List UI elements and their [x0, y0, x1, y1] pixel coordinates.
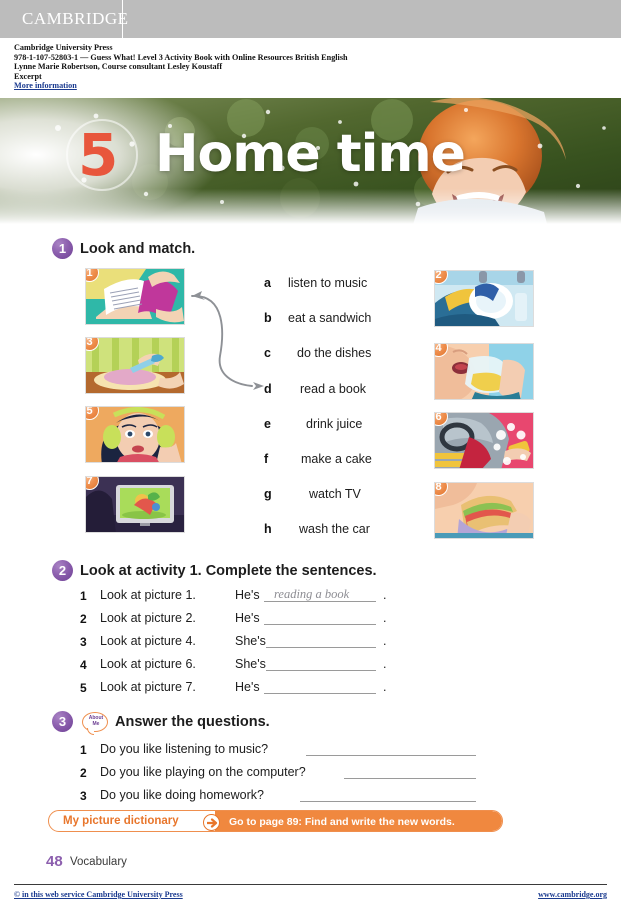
publisher-bar: CAMBRIDGE	[0, 0, 621, 38]
match-option-e[interactable]: drink juice	[306, 417, 362, 431]
website-link[interactable]: www.cambridge.org	[538, 890, 607, 899]
dictionary-instruction: Go to page 89: Find and write the new wo…	[229, 816, 455, 828]
page-section-label: Vocabulary	[70, 856, 127, 868]
a3-row-3-question: Do you like doing homework?	[100, 788, 264, 802]
a3-row-1-num: 1	[80, 743, 87, 757]
match-letter-e: e	[264, 417, 271, 431]
activity-1-title: Look and match.	[80, 241, 195, 257]
bibliographic-info: Cambridge University Press 978-1-107-528…	[14, 43, 574, 91]
a2-row-2-subject: He's	[235, 611, 260, 625]
a2-row-4-prompt: Look at picture 6.	[100, 657, 196, 671]
a2-row-2-prompt: Look at picture 2.	[100, 611, 196, 625]
illustration-washing-the-car	[435, 413, 534, 469]
picture-dictionary-banner[interactable]: My picture dictionary Go to page 89: Fin…	[48, 810, 503, 832]
picture-2[interactable]: 2	[434, 270, 534, 327]
a3-row-2-num: 2	[80, 766, 87, 780]
illustration-making-a-cake	[86, 338, 185, 394]
a2-row-5-answer-line[interactable]	[264, 693, 376, 694]
match-option-h[interactable]: wash the car	[299, 522, 370, 536]
activity-2-title: Look at activity 1. Complete the sentenc…	[80, 563, 377, 579]
a2-row-1-subject: He's	[235, 588, 260, 602]
footer-divider	[14, 884, 607, 885]
a2-row-5-subject: He's	[235, 680, 260, 694]
about-me-label-line2: Me	[83, 721, 109, 727]
picture-4[interactable]: 4	[434, 343, 534, 400]
a2-row-4-answer-line[interactable]	[266, 670, 376, 671]
picture-8[interactable]: 8	[434, 482, 534, 539]
illustration-doing-the-dishes	[435, 271, 534, 327]
match-option-a[interactable]: listen to music	[288, 276, 367, 290]
illustration-watching-tv	[86, 477, 185, 533]
a2-row-4-num: 4	[80, 658, 87, 672]
biblio-isbn-title: 978-1-107-52803-1 — Guess What! Level 3 …	[14, 53, 574, 63]
match-letter-h: h	[264, 522, 272, 536]
a2-row-4-subject: She's	[235, 657, 266, 671]
match-option-g[interactable]: watch TV	[309, 487, 361, 501]
match-option-f[interactable]: make a cake	[301, 452, 372, 466]
picture-3[interactable]: 3	[85, 337, 185, 394]
match-option-d[interactable]: read a book	[300, 382, 366, 396]
illustration-eating-a-sandwich	[435, 483, 534, 539]
a2-row-3-num: 3	[80, 635, 87, 649]
a3-row-3-answer-line[interactable]	[300, 801, 476, 802]
a2-row-3-answer-line[interactable]	[266, 647, 376, 648]
illustration-reading-a-book	[86, 269, 185, 325]
unit-title: Home time	[155, 125, 465, 183]
dictionary-label: My picture dictionary	[63, 815, 179, 827]
cambridge-logo: CAMBRIDGE	[22, 9, 129, 29]
a2-row-2-answer-line[interactable]	[264, 624, 376, 625]
a2-row-5-period: .	[383, 680, 386, 694]
a3-row-1-answer-line[interactable]	[306, 755, 476, 756]
a3-row-2-question: Do you like playing on the computer?	[100, 765, 306, 779]
match-example-arrow	[180, 282, 270, 397]
activity-3-title: Answer the questions.	[115, 714, 270, 730]
a2-row-4-period: .	[383, 657, 386, 671]
a3-row-3-num: 3	[80, 789, 87, 803]
page-number: 48	[46, 853, 63, 870]
a2-row-3-period: .	[383, 634, 386, 648]
a2-row-1-period: .	[383, 588, 386, 602]
illustration-drinking-juice	[435, 344, 534, 400]
arrow-right-icon	[203, 814, 220, 831]
a2-row-1-num: 1	[80, 589, 87, 603]
a3-row-1-question: Do you like listening to music?	[100, 742, 268, 756]
about-me-tail	[87, 728, 94, 735]
match-option-c[interactable]: do the dishes	[297, 346, 371, 360]
illustration-listening-to-music	[86, 407, 185, 463]
a2-row-1-answer-text: reading a book	[274, 587, 349, 602]
copyright-link[interactable]: © in this web service Cambridge Universi…	[14, 890, 183, 899]
unit-number: 5	[78, 124, 118, 186]
a2-row-2-num: 2	[80, 612, 87, 626]
picture-5[interactable]: 5	[85, 406, 185, 463]
activity-2-badge: 2	[52, 560, 73, 581]
a2-row-3-prompt: Look at picture 4.	[100, 634, 196, 648]
biblio-publisher: Cambridge University Press	[14, 43, 574, 53]
logo-divider	[122, 0, 123, 38]
a2-row-3-subject: She's	[235, 634, 266, 648]
about-me-icon: About Me	[82, 712, 108, 732]
more-information-link[interactable]: More information	[14, 81, 574, 91]
a2-row-2-period: .	[383, 611, 386, 625]
match-letter-g: g	[264, 487, 272, 501]
a2-row-5-num: 5	[80, 681, 87, 695]
picture-1[interactable]: 1	[85, 268, 185, 325]
picture-6[interactable]: 6	[434, 412, 534, 469]
a3-row-2-answer-line[interactable]	[344, 778, 476, 779]
match-option-b[interactable]: eat a sandwich	[288, 311, 371, 325]
match-letter-f: f	[264, 452, 268, 466]
picture-7[interactable]: 7	[85, 476, 185, 533]
activity-1-badge: 1	[52, 238, 73, 259]
biblio-excerpt: Excerpt	[14, 72, 574, 82]
a2-row-5-prompt: Look at picture 7.	[100, 680, 196, 694]
activity-3-badge: 3	[52, 711, 73, 732]
a2-row-1-prompt: Look at picture 1.	[100, 588, 196, 602]
unit-hero-banner: 5 Home time	[0, 98, 621, 224]
biblio-authors: Lynne Marie Robertson, Course consultant…	[14, 62, 574, 72]
